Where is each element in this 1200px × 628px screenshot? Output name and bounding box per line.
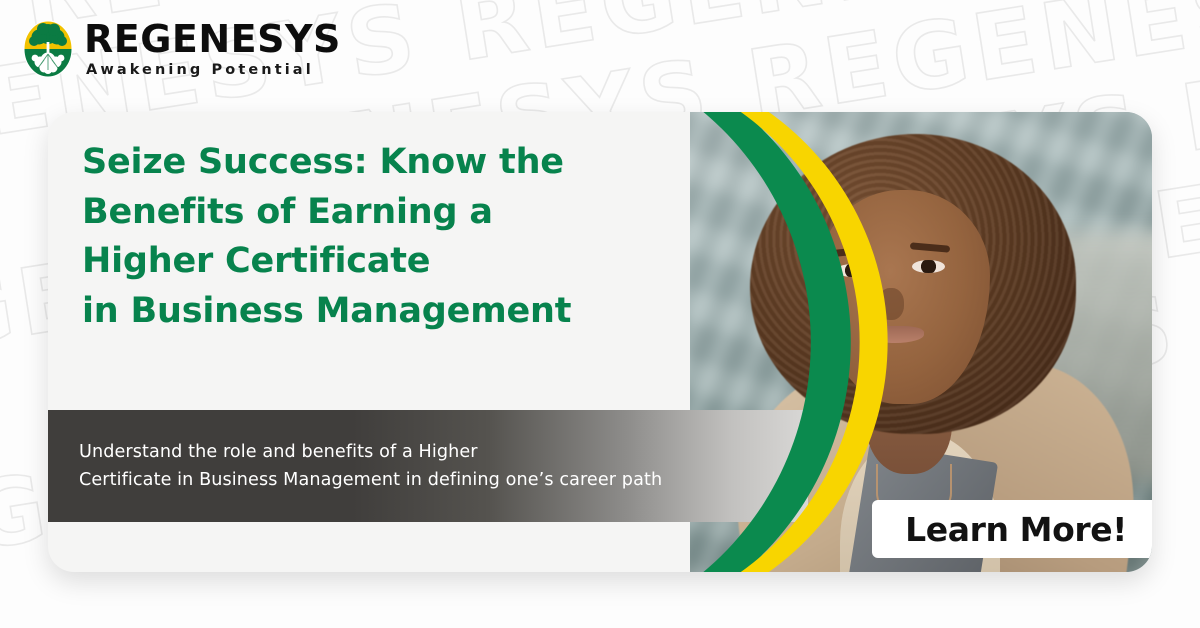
brand-wordmark: REGENESYS Awakening Potential <box>84 20 341 78</box>
nose <box>878 288 904 320</box>
brand-name: REGENESYS <box>84 20 341 58</box>
subtitle-bar: Understand the role and benefits of a Hi… <box>48 410 808 522</box>
mouth <box>866 326 924 343</box>
promo-card: Understand the role and benefits of a Hi… <box>48 112 1152 572</box>
promo-banner: REGENESYS REGENESYS REGENESYS REGENESYS … <box>0 0 1200 628</box>
page-title: Seize Success: Know the Benefits of Earn… <box>82 138 692 337</box>
eye-right <box>912 260 945 273</box>
tree-oval-icon <box>22 20 74 78</box>
subtitle-text: Understand the role and benefits of a Hi… <box>48 438 662 495</box>
brand-tagline: Awakening Potential <box>86 63 341 78</box>
eye-left <box>836 264 869 277</box>
brand-logo[interactable]: REGENESYS Awakening Potential <box>22 20 341 78</box>
learn-more-label: Learn More! <box>905 510 1127 549</box>
learn-more-button[interactable]: Learn More! <box>872 500 1152 558</box>
